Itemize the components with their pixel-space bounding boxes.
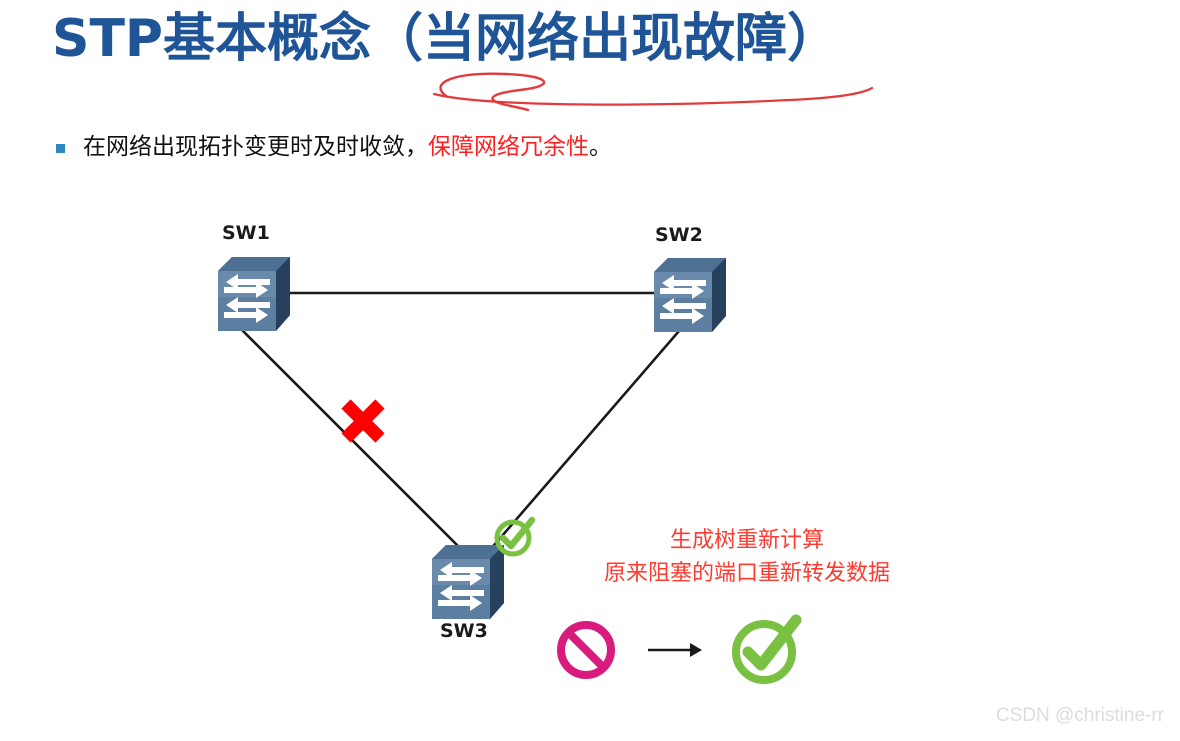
annotation-text: 生成树重新计算 原来阻塞的端口重新转发数据: [604, 524, 890, 590]
switch-icon-sw1[interactable]: [218, 257, 290, 331]
node-label-sw3: SW3: [440, 620, 488, 642]
red-x-icon: [336, 394, 390, 448]
watermark: CSDN @christine-rr: [996, 705, 1164, 727]
legend-row: [552, 612, 804, 688]
prohibition-icon: [552, 616, 620, 684]
switch-icon-sw2[interactable]: [654, 258, 726, 332]
green-check-icon-link: [490, 513, 538, 561]
node-label-sw1: SW1: [222, 222, 270, 244]
annotation-line-2: 原来阻塞的端口重新转发数据: [604, 557, 890, 590]
annotation-line-1: 生成树重新计算: [604, 524, 890, 557]
green-check-icon: [728, 612, 804, 688]
arrow-right-icon: [646, 638, 702, 662]
node-label-sw2: SW2: [655, 224, 703, 246]
slide-canvas: STP基本概念（当网络出现故障） 在网络出现拓扑变更时及时收敛， 保障网络冗余性…: [0, 0, 1180, 741]
